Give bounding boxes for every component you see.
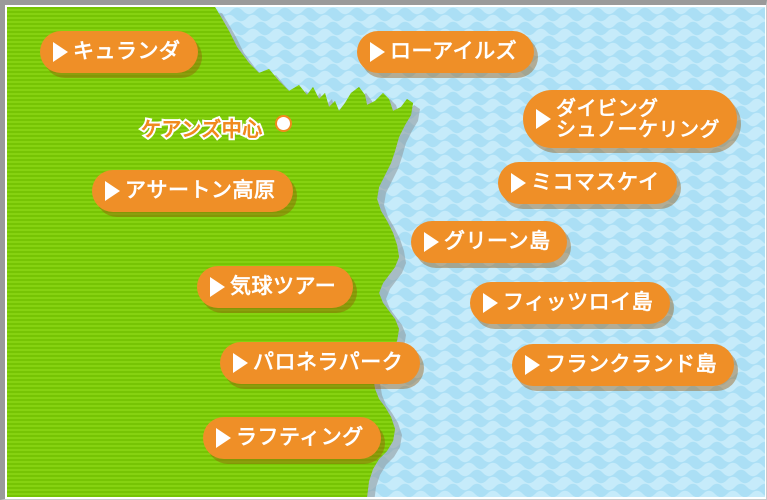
play-triangle-icon: [536, 109, 551, 129]
map-button-10[interactable]: パロネラパーク: [220, 342, 420, 384]
play-triangle-icon: [216, 428, 231, 448]
map-button-2[interactable]: ローアイルズ: [357, 31, 534, 73]
map-button-9[interactable]: フランクランド島: [512, 344, 734, 386]
map-button-label: アサートン高原: [125, 179, 276, 203]
play-triangle-icon: [53, 42, 68, 62]
map-button-label: 気球ツアー: [230, 275, 336, 299]
map-button-label: グリーン島: [444, 230, 550, 254]
play-triangle-icon: [105, 181, 120, 201]
map-button-label: ローアイルズ: [390, 40, 517, 64]
map-button-label-wrap: パロネラパーク: [253, 351, 403, 375]
map-button-11[interactable]: ラフティング: [203, 417, 381, 459]
map-button-label: キュランダ: [73, 40, 181, 64]
map-button-8[interactable]: フィッツロイ島: [470, 282, 670, 324]
city-label: ケアンズ中心: [141, 113, 263, 142]
map-button-label-wrap: ラフティング: [236, 426, 364, 450]
play-triangle-icon: [370, 42, 385, 62]
map-button-label: フィッツロイ島: [503, 291, 653, 315]
location-dot-icon: [277, 117, 290, 130]
play-triangle-icon: [424, 232, 439, 252]
map-button-label: フランクランド島: [545, 353, 717, 377]
map-button-label-wrap: グリーン島: [444, 230, 550, 254]
map-button-7[interactable]: 気球ツアー: [197, 266, 353, 308]
map-button-1[interactable]: キュランダ: [40, 31, 198, 73]
play-triangle-icon: [525, 355, 540, 375]
map-frame: ケアンズ中心 ケアンズ中心 キュランダローアイルズダイビングシュノーケリングミコ…: [0, 0, 767, 500]
play-triangle-icon: [511, 173, 526, 193]
map-button-label-line2: シュノーケリング: [556, 119, 720, 140]
map-button-label-wrap: フランクランド島: [545, 353, 717, 377]
map-canvas: ケアンズ中心 ケアンズ中心 キュランダローアイルズダイビングシュノーケリングミコ…: [7, 7, 765, 497]
map-button-label-wrap: ミコマスケイ: [531, 171, 660, 195]
map-button-6[interactable]: グリーン島: [411, 221, 567, 263]
play-triangle-icon: [483, 293, 498, 313]
map-button-5[interactable]: アサートン高原: [92, 170, 293, 212]
play-triangle-icon: [233, 353, 248, 373]
map-button-3[interactable]: ダイビングシュノーケリング: [523, 90, 737, 148]
map-button-label: ミコマスケイ: [531, 171, 660, 195]
play-triangle-icon: [210, 277, 225, 297]
map-button-label: ダイビング: [556, 98, 720, 119]
map-button-label-wrap: アサートン高原: [125, 179, 276, 203]
map-button-label-wrap: キュランダ: [73, 40, 181, 64]
map-button-label: ラフティング: [236, 426, 364, 450]
map-button-label-wrap: ローアイルズ: [390, 40, 517, 64]
map-button-label-wrap: 気球ツアー: [230, 275, 336, 299]
map-button-label-wrap: ダイビングシュノーケリング: [556, 98, 720, 140]
map-button-label-wrap: フィッツロイ島: [503, 291, 653, 315]
map-button-4[interactable]: ミコマスケイ: [498, 162, 677, 204]
map-button-label: パロネラパーク: [253, 351, 403, 375]
